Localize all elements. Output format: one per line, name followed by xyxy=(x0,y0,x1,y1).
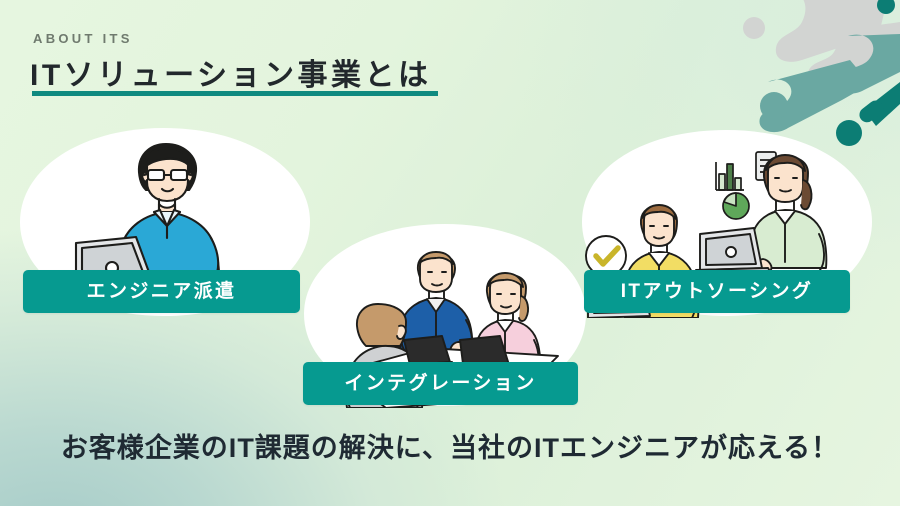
page-title: ITソリューション事業とは xyxy=(30,50,432,94)
card-engineer-dispatch[interactable]: エンジニア派遣 xyxy=(14,126,314,318)
title-underline-rule xyxy=(32,91,438,96)
badge-integration[interactable]: インテグレーション xyxy=(303,362,578,405)
slide-canvas: ABOUT ITS ITソリューション事業とは xyxy=(0,0,900,506)
eyebrow-label: ABOUT ITS xyxy=(33,31,133,46)
badge-it-outsourcing[interactable]: ITアウトソーシング xyxy=(584,270,850,313)
card-integration[interactable]: インテグレーション xyxy=(300,222,590,408)
badge-engineer-dispatch[interactable]: エンジニア派遣 xyxy=(23,270,300,313)
card-it-outsourcing[interactable]: ITアウトソーシング xyxy=(576,128,876,318)
footer-caption: お客様企業のIT課題の解決に、当社のITエンジニアが応える！ xyxy=(0,426,900,465)
